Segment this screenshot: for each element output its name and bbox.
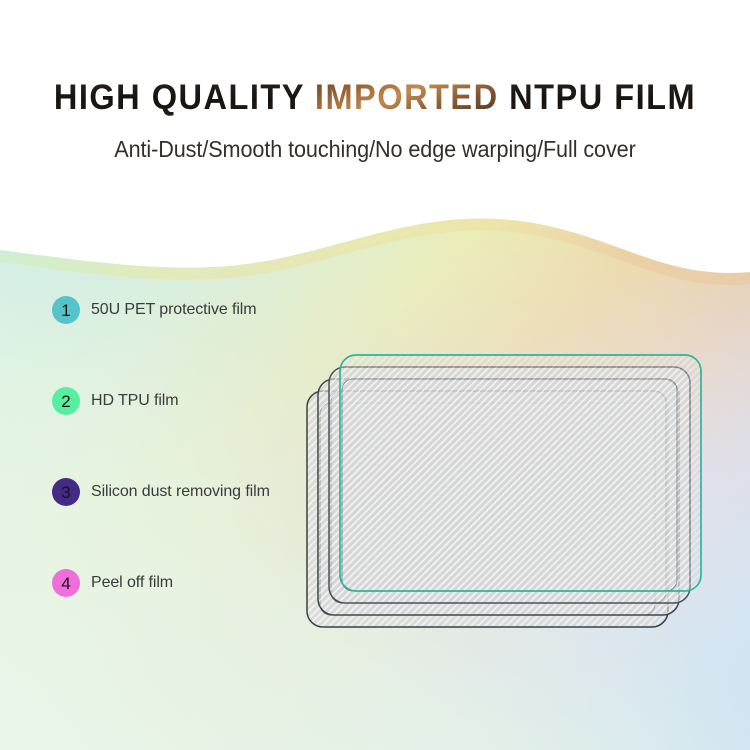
- legend-label-3: Silicon dust removing film: [91, 483, 270, 501]
- title-segment-1: HIGH QUALITY: [54, 78, 315, 117]
- page-title: HIGH QUALITY IMPORTED NTPU FILM: [26, 78, 724, 118]
- list-item: 4 Peel off film: [52, 569, 352, 597]
- legend-badge-4: 4: [52, 569, 80, 597]
- legend-badge-2: 2: [52, 387, 80, 415]
- legend-label-2: HD TPU film: [91, 392, 179, 410]
- legend-badge-3: 3: [52, 478, 80, 506]
- product-infographic-page: HIGH QUALITY IMPORTED NTPU FILM Anti-Dus…: [0, 0, 750, 750]
- film-layer-1-sheet: [340, 355, 701, 591]
- list-item: 1 50U PET protective film: [52, 296, 352, 324]
- legend-label-4: Peel off film: [91, 574, 173, 592]
- legend-label-1: 50U PET protective film: [91, 301, 256, 319]
- title-segment-3: NTPU FILM: [499, 78, 697, 117]
- list-item: 3 Silicon dust removing film: [52, 478, 352, 506]
- layer-legend-list: 1 50U PET protective film 2 HD TPU film …: [52, 296, 352, 597]
- page-subtitle: Anti-Dust/Smooth touching/No edge warpin…: [23, 136, 728, 163]
- legend-badge-1: 1: [52, 296, 80, 324]
- film-layer-1-teal: [340, 355, 701, 591]
- title-segment-2-imported: IMPORTED: [315, 78, 499, 117]
- header: HIGH QUALITY IMPORTED NTPU FILM Anti-Dus…: [0, 0, 750, 210]
- list-item: 2 HD TPU film: [52, 387, 352, 415]
